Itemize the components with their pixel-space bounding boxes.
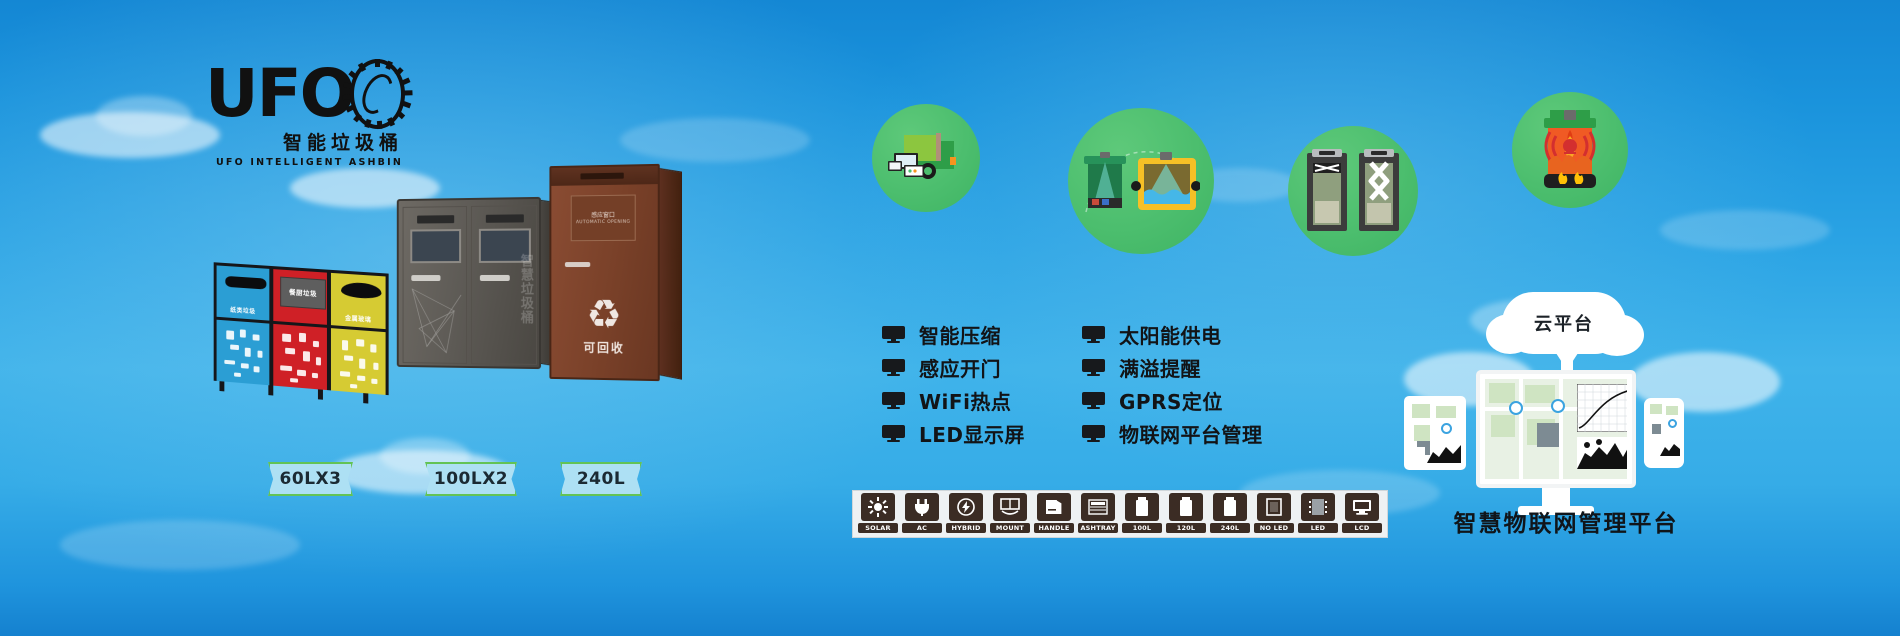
logo-chinese-name: 智能垃圾桶 bbox=[205, 128, 405, 155]
spec-label: AC bbox=[902, 523, 942, 533]
ashtray-icon bbox=[1081, 493, 1115, 521]
bin-side-text: 智慧垃圾桶 bbox=[517, 254, 533, 325]
feature-column-right: 太阳能供电 满溢提醒 GPRS定位 物联网平台管理 bbox=[1082, 318, 1263, 450]
spec-label: 100L bbox=[1122, 523, 1162, 533]
spec-item-lcd[interactable]: LCD bbox=[1342, 493, 1382, 535]
ufo-ring-logo-icon bbox=[350, 59, 405, 129]
bin-top: 餐厨垃圾 bbox=[273, 269, 327, 325]
feature-label: 感应开门 bbox=[919, 353, 1001, 382]
feature-label: GPRS定位 bbox=[1119, 386, 1223, 415]
bin-top: 纸类垃圾 bbox=[217, 265, 270, 320]
feature-item: 满溢提醒 bbox=[1082, 351, 1263, 384]
bin-top: 金属玻璃 bbox=[331, 273, 386, 329]
capacity-tag-240l: 240L bbox=[560, 462, 642, 496]
feature-item: 感应开门 bbox=[882, 351, 1025, 384]
compartment-label: 纸类垃圾 bbox=[217, 304, 270, 317]
bin-compartment: 金属玻璃 bbox=[328, 270, 389, 395]
bin-compartment: 餐厨垃圾 bbox=[270, 266, 330, 390]
garbage-truck-with-devices-icon bbox=[886, 127, 966, 189]
waste-slot-icon bbox=[341, 282, 381, 300]
logo-english-name: UFO INTELLIGENT ASHBIN bbox=[205, 157, 405, 168]
smartphone-device bbox=[1644, 398, 1684, 468]
lightning-circle-icon bbox=[949, 493, 983, 521]
led-strip-icon bbox=[486, 214, 524, 222]
bin-body: 感应窗口 AUTOMATIC OPENING ♻ 可回收 bbox=[549, 164, 659, 381]
cloud-decoration bbox=[96, 96, 192, 136]
bin-body bbox=[273, 321, 327, 390]
feature-label: LED显示屏 bbox=[919, 419, 1025, 448]
spec-item-hybrid[interactable]: HYBRID bbox=[946, 493, 986, 535]
spec-item-240l[interactable]: 240L bbox=[1210, 493, 1250, 535]
monitor-icon bbox=[1082, 425, 1105, 442]
recycle-icon: ♻ bbox=[582, 295, 625, 335]
feature-item: WiFi热点 bbox=[882, 384, 1025, 417]
monitor-icon bbox=[1082, 392, 1105, 409]
banner-canvas: UFO bbox=[0, 0, 1900, 636]
spec-item-solar[interactable]: SOLAR bbox=[858, 493, 898, 535]
spec-item-120l[interactable]: 120L bbox=[1166, 493, 1206, 535]
spec-item-ac[interactable]: AC bbox=[902, 493, 942, 535]
spec-label: 120L bbox=[1166, 523, 1206, 533]
bin-lid bbox=[551, 166, 657, 186]
feature-label: WiFi热点 bbox=[919, 386, 1011, 415]
bin-side-panel bbox=[658, 168, 682, 380]
feature-column-left: 智能压缩 感应开门 WiFi热点 LED显示屏 bbox=[882, 318, 1025, 450]
twin-bin-compaction-icon bbox=[1301, 145, 1405, 237]
cloud-decoration bbox=[40, 112, 220, 158]
spec-label: NO LED bbox=[1254, 523, 1294, 533]
lcd-screen-icon bbox=[1345, 493, 1379, 521]
spec-label: HYBRID bbox=[946, 523, 986, 533]
power-plug-icon bbox=[905, 493, 939, 521]
spec-item-led[interactable]: LED bbox=[1298, 493, 1338, 535]
capacity-tag-60lx3: 60LX3 bbox=[268, 462, 353, 496]
display-screen: 餐厨垃圾 bbox=[280, 277, 326, 310]
iot-platform-illustration: 云平台 bbox=[1398, 292, 1734, 542]
bin-body bbox=[331, 325, 386, 395]
cloud-decoration bbox=[60, 520, 300, 570]
litter-graphic bbox=[331, 328, 386, 395]
litter-graphic bbox=[217, 320, 270, 386]
spec-label: SOLAR bbox=[858, 523, 898, 533]
spec-item-100l[interactable]: 100L bbox=[1122, 493, 1162, 535]
monitor-frame bbox=[1476, 370, 1636, 488]
bin-120l-icon bbox=[1169, 493, 1203, 521]
litter-graphic bbox=[273, 324, 327, 390]
bin-fill-level-sensor-icon bbox=[1082, 142, 1200, 220]
circle-fire-alarm bbox=[1512, 92, 1628, 208]
cloud-platform-label: 云平台 bbox=[1534, 310, 1594, 336]
product-double-bin[interactable]: 智慧垃圾桶 bbox=[397, 197, 541, 369]
capacity-tag-100lx2: 100LX2 bbox=[425, 462, 517, 496]
bin-body: 智慧垃圾桶 bbox=[397, 197, 541, 369]
feature-label: 满溢提醒 bbox=[1119, 353, 1201, 382]
spec-label: LED bbox=[1298, 523, 1338, 533]
bin-240l-icon bbox=[1213, 493, 1247, 521]
monitor-icon bbox=[882, 326, 905, 343]
dashboard-screen bbox=[1485, 379, 1627, 479]
spec-icon-bar: SOLAR AC HYBRID MOUNT HANDLE bbox=[852, 490, 1388, 538]
bin-compartment: 纸类垃圾 bbox=[214, 262, 273, 385]
bin-fire-alarm-icon bbox=[1526, 106, 1614, 194]
bin-body bbox=[217, 317, 270, 386]
feature-item: GPRS定位 bbox=[1082, 384, 1263, 417]
circle-fill-sensor bbox=[1068, 108, 1214, 254]
spec-item-handle[interactable]: HANDLE bbox=[1034, 493, 1074, 535]
circle-compaction bbox=[1288, 126, 1418, 256]
spec-item-ashtray[interactable]: ASHTRAY bbox=[1078, 493, 1118, 535]
spec-label: MOUNT bbox=[990, 523, 1030, 533]
feature-item: 智能压缩 bbox=[882, 318, 1025, 351]
spec-label: ASHTRAY bbox=[1078, 523, 1118, 533]
waste-slot-icon bbox=[225, 276, 266, 290]
product-single-bin[interactable]: 感应窗口 AUTOMATIC OPENING ♻ 可回收 bbox=[549, 164, 659, 381]
screen-line-2: AUTOMATIC OPENING bbox=[572, 220, 635, 226]
feature-label: 物联网平台管理 bbox=[1119, 419, 1263, 448]
arrow-down-icon bbox=[1554, 350, 1580, 370]
monitor-icon bbox=[882, 392, 905, 409]
logo-wordmark: UFO bbox=[205, 64, 354, 124]
line-chart-panel bbox=[1577, 384, 1627, 432]
bin-door bbox=[403, 206, 467, 364]
spec-label: 240L bbox=[1210, 523, 1250, 533]
monitor-icon bbox=[1082, 359, 1105, 376]
compartment-label: 餐厨垃圾 bbox=[281, 286, 325, 299]
cloud-platform-badge: 云平台 bbox=[1502, 292, 1626, 354]
screen-line-1: 感应窗口 bbox=[572, 210, 635, 220]
logo-wordmark-row: UFO bbox=[205, 58, 405, 130]
spec-item-mount[interactable]: MOUNT bbox=[990, 493, 1030, 535]
bin-100l-icon bbox=[1125, 493, 1159, 521]
led-panel-icon bbox=[1301, 493, 1335, 521]
platform-caption: 智慧物联网管理平台 bbox=[1398, 504, 1734, 538]
feature-item: 太阳能供电 bbox=[1082, 318, 1263, 351]
monitor-icon bbox=[882, 425, 905, 442]
feature-label: 智能压缩 bbox=[919, 320, 1001, 349]
display-screen bbox=[410, 229, 461, 263]
brand-logo: UFO bbox=[205, 58, 405, 168]
sun-icon bbox=[861, 493, 895, 521]
handle-icon bbox=[480, 275, 510, 281]
spec-item-no-led[interactable]: NO LED bbox=[1254, 493, 1294, 535]
cloud-decoration bbox=[1660, 210, 1830, 250]
desktop-monitor bbox=[1476, 370, 1636, 488]
led-strip-icon bbox=[417, 215, 454, 223]
handle-icon bbox=[1037, 493, 1071, 521]
spec-label: HANDLE bbox=[1034, 523, 1074, 533]
area-chart-panel bbox=[1577, 437, 1627, 469]
feature-item: LED显示屏 bbox=[882, 417, 1025, 450]
product-triple-bin[interactable]: 纸类垃圾 餐厨垃圾 bbox=[214, 262, 393, 395]
compartment-label: 金属玻璃 bbox=[331, 312, 386, 325]
monitor-icon bbox=[1082, 326, 1105, 343]
display-screen: 感应窗口 AUTOMATIC OPENING bbox=[571, 195, 636, 242]
feature-item: 物联网平台管理 bbox=[1082, 417, 1263, 450]
circle-collection-truck bbox=[872, 104, 980, 212]
tablet-device bbox=[1404, 396, 1466, 470]
handle-icon bbox=[565, 262, 590, 267]
bin-front-label: 可回收 bbox=[551, 338, 657, 357]
wall-mount-icon bbox=[993, 493, 1027, 521]
feature-label: 太阳能供电 bbox=[1119, 320, 1222, 349]
spec-label: LCD bbox=[1342, 523, 1382, 533]
monitor-icon bbox=[882, 359, 905, 376]
no-led-icon bbox=[1257, 493, 1291, 521]
cloud-decoration bbox=[620, 118, 810, 162]
